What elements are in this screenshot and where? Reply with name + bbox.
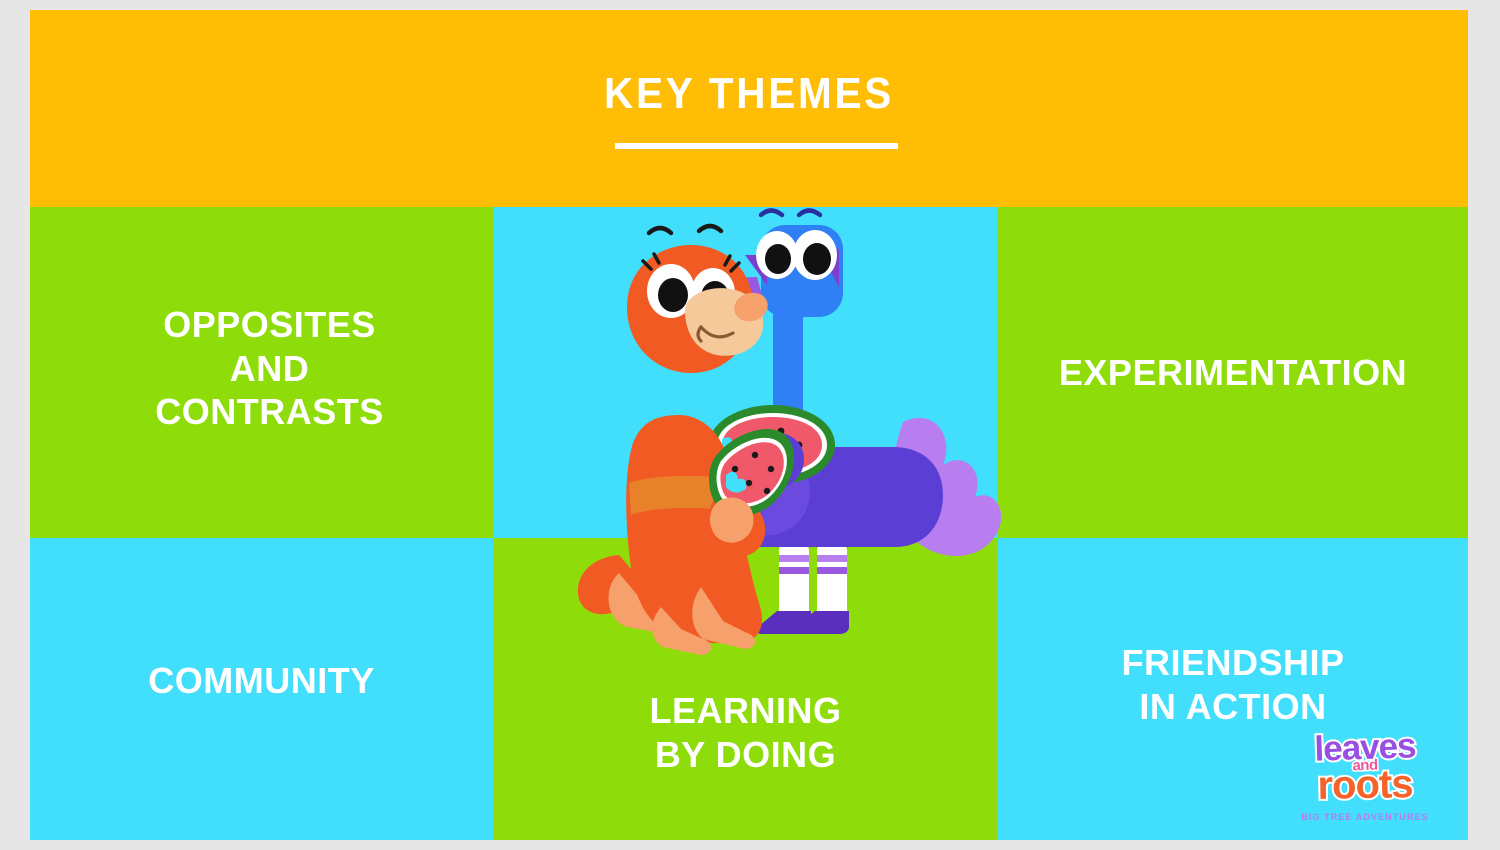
logo-word-roots: roots bbox=[1285, 764, 1446, 807]
theme-cell-experimentation[interactable]: EXPERIMENTATION bbox=[998, 207, 1468, 538]
theme-cell-opposites[interactable]: OPPOSITES AND CONTRASTS bbox=[30, 207, 493, 538]
theme-cell-illustration bbox=[493, 207, 998, 538]
theme-label-community: COMMUNITY bbox=[148, 659, 374, 703]
logo-tagline: BIG TREE ADVENTURES bbox=[1285, 812, 1445, 822]
themes-grid: OPPOSITES AND CONTRASTS EXPERIMENTATION … bbox=[30, 207, 1468, 840]
theme-label-learning-by-doing: LEARNING BY DOING bbox=[650, 689, 842, 777]
brand-logo[interactable]: leaves and roots BIG TREE ADVENTURES bbox=[1285, 730, 1445, 830]
slide-canvas: KEY THEMES OPPOSITES AND CONTRASTS EXPER… bbox=[30, 10, 1468, 840]
theme-label-friendship-in-action: FRIENDSHIP IN ACTION bbox=[1121, 641, 1344, 729]
theme-cell-community[interactable]: COMMUNITY bbox=[30, 538, 493, 840]
theme-label-experimentation: EXPERIMENTATION bbox=[1059, 351, 1407, 395]
page-title: KEY THEMES bbox=[88, 72, 1411, 116]
title-underline-rule bbox=[615, 143, 898, 149]
theme-label-opposites: OPPOSITES AND CONTRASTS bbox=[155, 303, 384, 435]
theme-cell-learning-by-doing[interactable]: LEARNING BY DOING bbox=[493, 538, 998, 840]
slide-header: KEY THEMES bbox=[30, 10, 1468, 207]
